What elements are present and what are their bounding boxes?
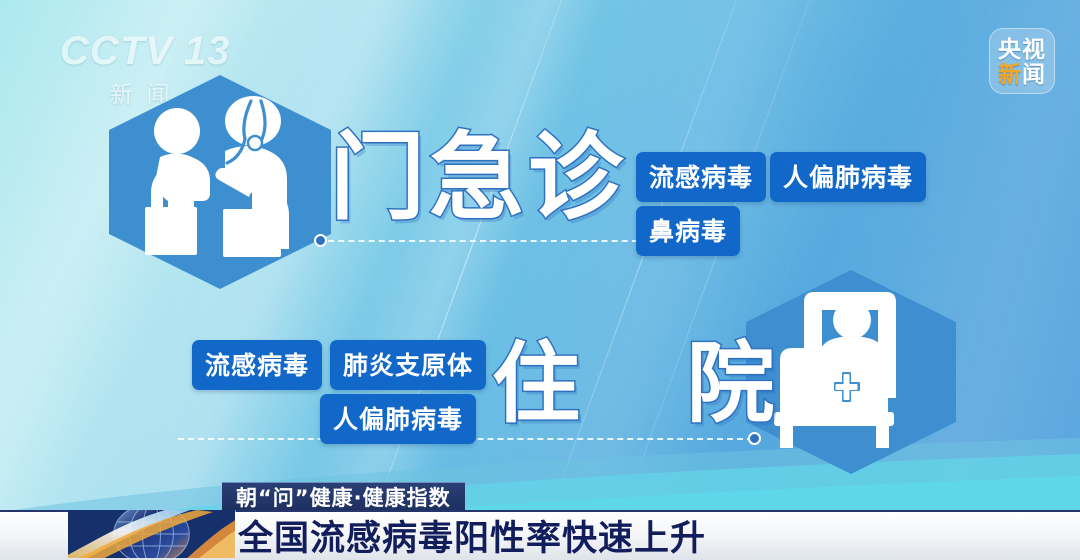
cctv-news-badge: 央视 新闻 bbox=[989, 28, 1055, 94]
cctv-logo-text: CCTV bbox=[60, 30, 173, 72]
globe-decoration-icon bbox=[68, 510, 236, 558]
tag-inpatient-mycoplasma[interactable]: 肺炎支原体 bbox=[330, 340, 486, 390]
tag-inpatient-influenza[interactable]: 流感病毒 bbox=[192, 340, 322, 390]
news-badge-rest-char: 闻 bbox=[1022, 61, 1046, 87]
heading-inpatient: 住 院 bbox=[492, 337, 813, 431]
outpatient-dashed-line bbox=[318, 240, 648, 242]
tag-outpatient-metapneumovirus[interactable]: 人偏肺病毒 bbox=[770, 152, 926, 202]
news-badge-line2: 新闻 bbox=[998, 62, 1046, 86]
tag-outpatient-rhinovirus[interactable]: 鼻病毒 bbox=[636, 206, 740, 256]
news-badge-line1: 央视 bbox=[998, 37, 1046, 61]
tag-inpatient-metapneumovirus[interactable]: 人偏肺病毒 bbox=[320, 394, 476, 444]
broadcast-graphic-stage: CCTV 13 新闻 央视 新闻 bbox=[0, 0, 1080, 560]
cctv-logo-number: 13 bbox=[184, 30, 231, 72]
headline-bar: 全国流感病毒阳性率快速上升 bbox=[0, 510, 1080, 560]
lower-third: 朝“问”健康·健康指数 bbox=[0, 468, 1080, 560]
news-badge-highlight-char: 新 bbox=[998, 61, 1022, 87]
headline-text: 全国流感病毒阳性率快速上升 bbox=[238, 512, 706, 558]
tag-outpatient-influenza[interactable]: 流感病毒 bbox=[636, 152, 766, 202]
outpatient-hexagon bbox=[105, 73, 335, 291]
program-label-banner: 朝“问”健康·健康指数 bbox=[222, 482, 465, 512]
program-label-text: 朝“问”健康·健康指数 bbox=[236, 482, 451, 512]
outpatient-line-dot bbox=[314, 234, 327, 247]
cctv-logo-slash bbox=[172, 34, 182, 68]
heading-outpatient: 门急诊 bbox=[330, 128, 627, 228]
